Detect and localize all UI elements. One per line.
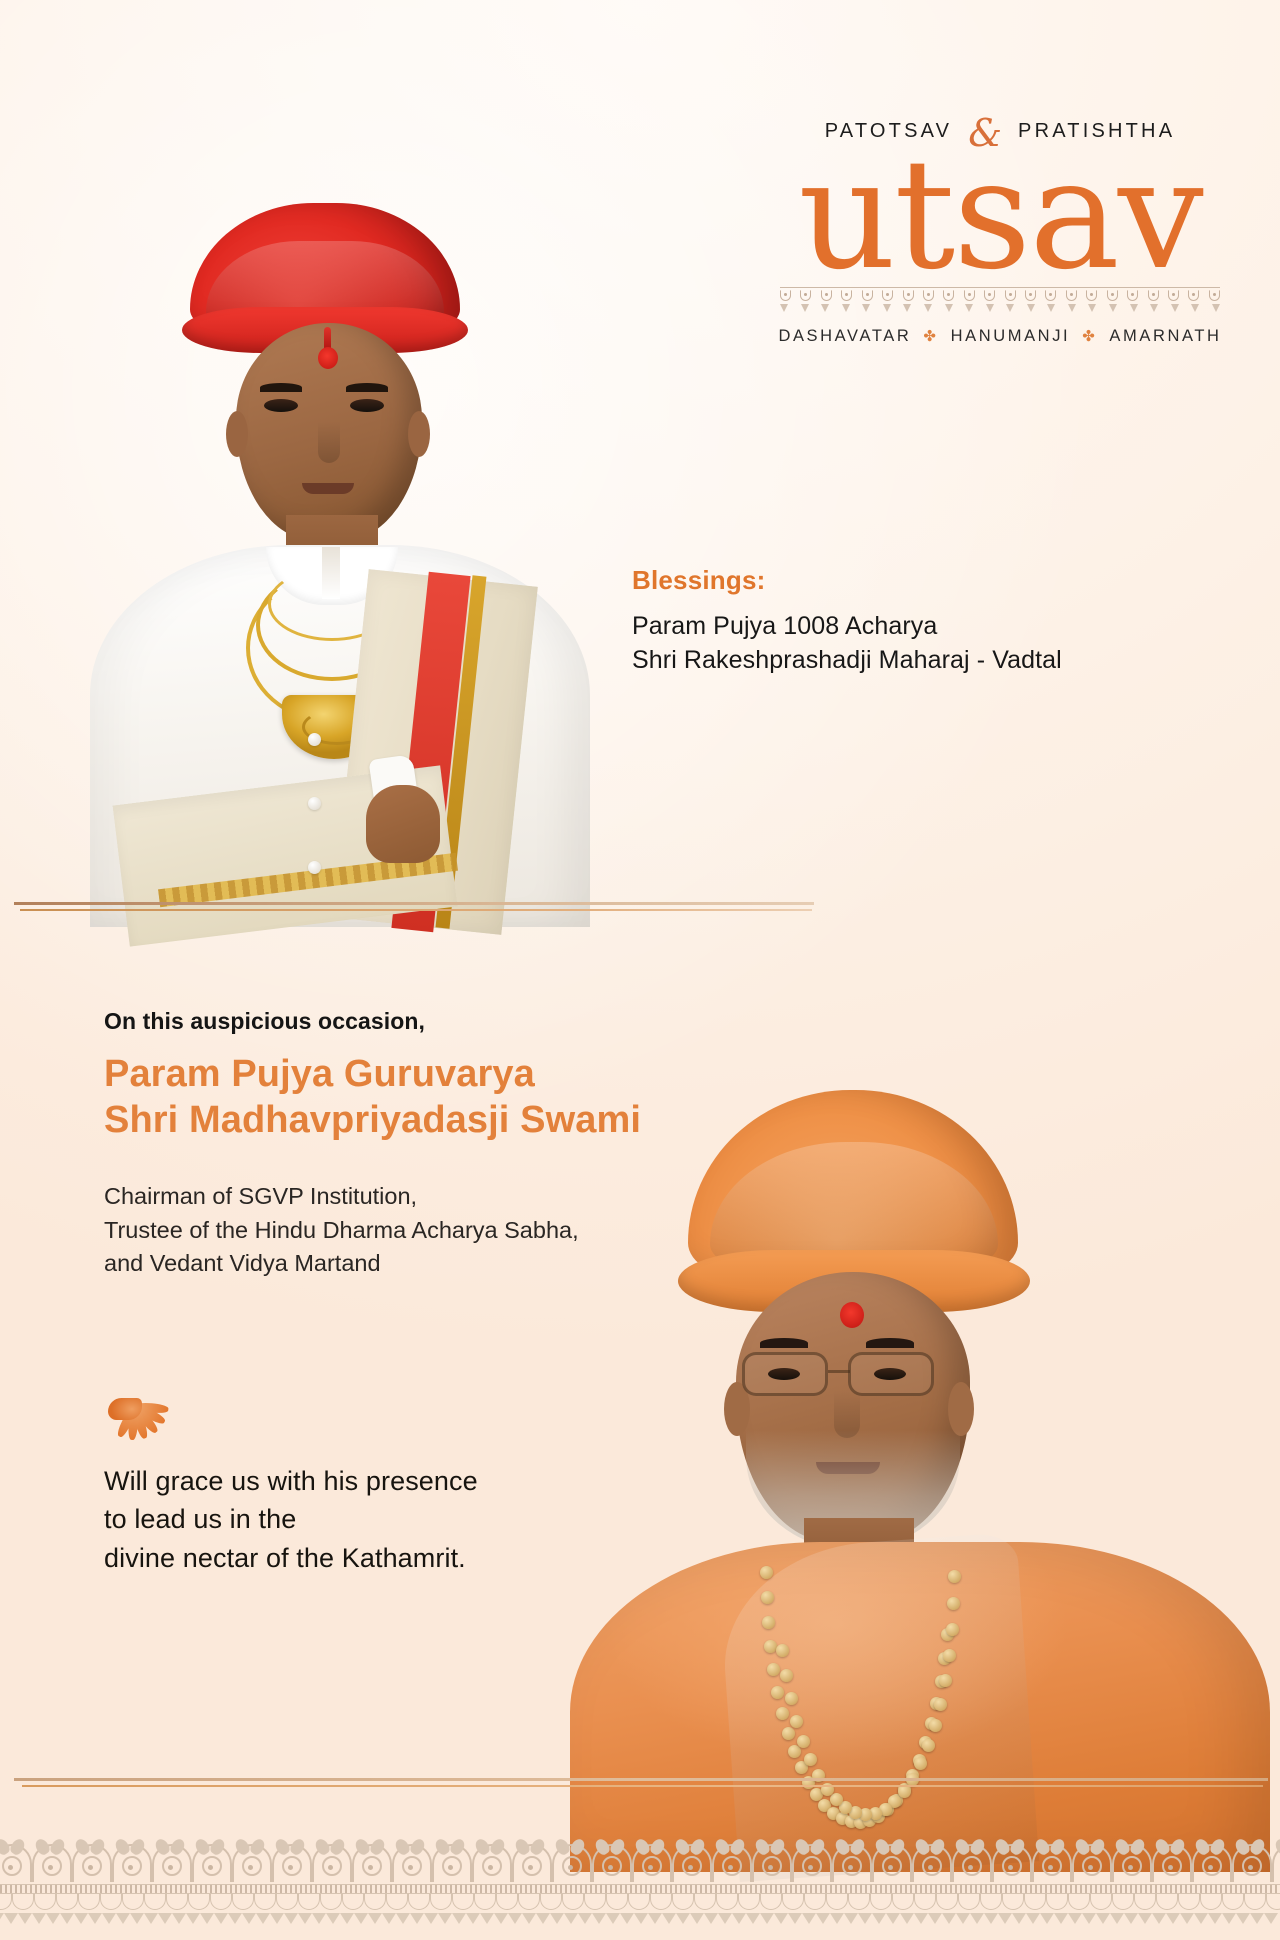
mandala-arch — [790, 1838, 830, 1882]
mandala-arch — [630, 1838, 670, 1882]
mandala-petal — [128, 1837, 147, 1857]
mandala-vee — [326, 1913, 340, 1924]
lace-tooth — [1088, 304, 1096, 312]
mandala-dot — [128, 1865, 133, 1870]
mandala-petal — [153, 1837, 172, 1857]
mandala-vee — [1110, 1913, 1124, 1924]
mandala-vee — [298, 1913, 312, 1924]
mala-bead — [785, 1692, 798, 1705]
mandala-vee — [1082, 1913, 1096, 1924]
lace-tooth — [842, 304, 850, 312]
lace-tooth — [883, 304, 891, 312]
mandala-scallop — [826, 1894, 848, 1910]
mandala-vee — [942, 1913, 956, 1924]
mandala-scallop — [1134, 1894, 1156, 1910]
lace-tooth — [986, 304, 994, 312]
fan-flower-ornament-icon — [104, 1376, 174, 1438]
mandala-vee — [788, 1913, 802, 1924]
mandala-vee — [956, 1913, 970, 1924]
divider-line-2 — [20, 909, 812, 911]
subtitle-item-hanumanji: HANUMANJI — [951, 327, 1071, 346]
mandala-vee — [760, 1913, 774, 1924]
mandala-vee — [648, 1913, 662, 1924]
mandala-scallop — [386, 1894, 408, 1910]
mandala-petal — [48, 1837, 67, 1857]
mandala-petal — [328, 1837, 347, 1857]
mandala-scallop — [760, 1894, 782, 1910]
mandala-scallop — [254, 1894, 276, 1910]
mandala-vee — [550, 1913, 564, 1924]
mala-bead — [943, 1649, 956, 1662]
mandala-petal — [1008, 1837, 1027, 1857]
mandala-vee — [1096, 1913, 1110, 1924]
mala-bead — [947, 1597, 960, 1610]
mandala-vee — [466, 1913, 480, 1924]
mandala-arch — [30, 1838, 70, 1882]
mandala-vee — [340, 1913, 354, 1924]
mandala-petal — [488, 1837, 507, 1857]
mandala-scallop — [606, 1894, 628, 1910]
mandala-vee — [1138, 1913, 1152, 1924]
flower-separator-icon: ✤ — [1082, 329, 1097, 344]
mandala-petal — [528, 1837, 547, 1857]
mandala-vee — [270, 1913, 284, 1924]
mandala-arch — [670, 1838, 710, 1882]
mandala-arch — [230, 1838, 270, 1882]
mandala-vee — [1250, 1913, 1264, 1924]
mandala-scallop — [1244, 1894, 1266, 1910]
mandala-vee — [564, 1913, 578, 1924]
mandala-vee — [354, 1913, 368, 1924]
mandala-petal — [1273, 1837, 1280, 1857]
mandala-scallop — [1068, 1894, 1090, 1910]
mandala-petal — [353, 1837, 372, 1857]
lace-arch — [1025, 290, 1036, 301]
mandala-petal — [888, 1837, 907, 1857]
lace-tooth — [924, 304, 932, 312]
mala-bead — [788, 1745, 801, 1758]
mandala-scallop — [364, 1894, 386, 1910]
mandala-vee — [144, 1913, 158, 1924]
lace-arch — [780, 290, 791, 301]
mandala-vee — [1166, 1913, 1180, 1924]
mandala-petal — [248, 1837, 267, 1857]
lace-arch — [1209, 290, 1220, 301]
mandala-scallop — [914, 1894, 936, 1910]
blessings-label: Blessings: — [632, 565, 1212, 596]
mandala-scallop — [210, 1894, 232, 1910]
lace-tooth — [1047, 304, 1055, 312]
blessings-block: Blessings: Param Pujya 1008 Acharya Shri… — [632, 565, 1212, 677]
mandala-dot — [688, 1865, 693, 1870]
mandala-petal — [513, 1837, 532, 1857]
mala-bead — [946, 1623, 959, 1636]
mandala-petal — [1168, 1837, 1187, 1857]
mandala-scallop — [518, 1894, 540, 1910]
mandala-dot — [328, 1865, 333, 1870]
brow-left — [760, 1338, 808, 1348]
lace-arch — [821, 290, 832, 301]
mandala-scallop — [892, 1894, 914, 1910]
mandala-vee — [200, 1913, 214, 1924]
mandala-petal — [208, 1837, 227, 1857]
ear-right — [408, 411, 430, 457]
mandala-dot — [448, 1865, 453, 1870]
mandala-dot — [1208, 1865, 1213, 1870]
lace-arch — [1107, 290, 1118, 301]
saint-portrait — [560, 1090, 1280, 1780]
mandala-vee — [116, 1913, 130, 1924]
mandala-arch — [110, 1838, 150, 1882]
mandala-arch — [1190, 1838, 1230, 1882]
lace-arch — [923, 290, 934, 301]
mandala-petal — [728, 1837, 747, 1857]
lace-arch — [1127, 290, 1138, 301]
brow-right — [346, 383, 388, 392]
mandala-scallop — [672, 1894, 694, 1910]
lace-arch — [984, 290, 995, 301]
mandala-petal — [688, 1837, 707, 1857]
hand — [366, 785, 440, 863]
mandala-arch — [710, 1838, 750, 1882]
mandala-scallop — [738, 1894, 760, 1910]
mandala-vee — [704, 1913, 718, 1924]
mandala-scallop — [166, 1894, 188, 1910]
mandala-vee — [242, 1913, 256, 1924]
mandala-arch — [910, 1838, 950, 1882]
mandala-vee — [690, 1913, 704, 1924]
mandala-vee — [872, 1913, 886, 1924]
bottom-mandala-border — [0, 1810, 1280, 1940]
mandala-petal — [1048, 1837, 1067, 1857]
mandala-dot — [248, 1865, 253, 1870]
mandala-vee — [578, 1913, 592, 1924]
lace-arch — [800, 290, 811, 301]
mandala-scallop — [342, 1894, 364, 1910]
mala-bead — [939, 1674, 952, 1687]
lace-arch — [1086, 290, 1097, 301]
lace-tooth — [862, 304, 870, 312]
mandala-scallop — [430, 1894, 452, 1910]
mandala-vee — [368, 1913, 382, 1924]
mandala-petal — [608, 1837, 627, 1857]
mandala-vee — [522, 1913, 536, 1924]
mandala-vee — [508, 1913, 522, 1924]
lace-teeth-row — [780, 304, 1220, 314]
mandala-arch — [1230, 1838, 1270, 1882]
lace-tooth — [903, 304, 911, 312]
mandala-dot — [288, 1865, 293, 1870]
mandala-scallop — [78, 1894, 100, 1910]
mandala-vee — [396, 1913, 410, 1924]
mandala-scallop — [694, 1894, 716, 1910]
mandala-petal — [88, 1837, 107, 1857]
mandala-vee — [634, 1913, 648, 1924]
mandala-vee — [424, 1913, 438, 1924]
mandala-vee — [284, 1913, 298, 1924]
mandala-scallop — [1002, 1894, 1024, 1910]
mandala-arch — [750, 1838, 790, 1882]
ampersand-glyph: & — [968, 122, 1002, 145]
mandala-vee — [816, 1913, 830, 1924]
mandala-arch — [1030, 1838, 1070, 1882]
mandala-scallop — [144, 1894, 166, 1910]
kurta-button — [308, 861, 321, 874]
lace-arch — [1045, 290, 1056, 301]
mala-bead — [760, 1566, 773, 1579]
mandala-vee — [1194, 1913, 1208, 1924]
mandala-vee — [676, 1913, 690, 1924]
mandala-arch — [950, 1838, 990, 1882]
section-divider-top — [14, 902, 814, 912]
mandala-petal — [168, 1837, 187, 1857]
lace-arch — [882, 290, 893, 301]
mandala-vee — [228, 1913, 242, 1924]
mala-bead — [790, 1715, 803, 1728]
lace-tooth — [945, 304, 953, 312]
mandala-arch — [470, 1838, 510, 1882]
lace-arch — [1168, 290, 1179, 301]
mala-bead — [764, 1640, 777, 1653]
divider-line-2 — [22, 1785, 1263, 1787]
mandala-arch-row — [0, 1838, 1280, 1882]
mandala-vee — [102, 1913, 116, 1924]
tilak-dot-icon — [840, 1302, 864, 1328]
mandala-vee — [886, 1913, 900, 1924]
mala-bead — [922, 1739, 935, 1752]
utsav-logo: PATOTSAV & PRATISHTHA utsav DASHAVATAR ✤… — [780, 120, 1220, 346]
mandala-arch — [870, 1838, 910, 1882]
mandala-vee — [718, 1913, 732, 1924]
mandala-dot — [1168, 1865, 1173, 1870]
mandala-arch — [0, 1838, 30, 1882]
mala-bead — [761, 1591, 774, 1604]
mala-bead — [914, 1757, 927, 1770]
mandala-dot — [888, 1865, 893, 1870]
mandala-petal — [1193, 1837, 1212, 1857]
mandala-petal — [393, 1837, 412, 1857]
mandala-dot — [608, 1865, 613, 1870]
mandala-vee — [1152, 1913, 1166, 1924]
mandala-petal — [953, 1837, 972, 1857]
lace-tooth — [1130, 304, 1138, 312]
mandala-dot — [768, 1865, 773, 1870]
mandala-dot — [208, 1865, 213, 1870]
mandala-arch — [550, 1838, 590, 1882]
lace-tooth — [965, 304, 973, 312]
lace-tooth — [1212, 304, 1220, 312]
mouth — [302, 483, 354, 494]
lace-tooth — [1006, 304, 1014, 312]
mandala-dotted-band — [0, 1884, 1280, 1894]
acharya-portrait — [50, 195, 620, 925]
mala-bead — [948, 1570, 961, 1583]
mandala-petal — [233, 1837, 252, 1857]
mandala-dot — [8, 1865, 13, 1870]
mandala-scallop — [716, 1894, 738, 1910]
lace-ornament — [780, 287, 1220, 313]
eye-right — [350, 399, 384, 412]
mandala-scallop — [782, 1894, 804, 1910]
mandala-scallop — [936, 1894, 958, 1910]
mandala-vee — [858, 1913, 872, 1924]
mandala-petal — [593, 1837, 612, 1857]
mandala-petal — [833, 1837, 852, 1857]
mandala-vee — [256, 1913, 270, 1924]
mandala-dot — [928, 1865, 933, 1870]
mandala-arch — [510, 1838, 550, 1882]
mandala-scallop — [56, 1894, 78, 1910]
mandala-petal — [568, 1837, 587, 1857]
mandala-petal — [448, 1837, 467, 1857]
mandala-petal — [848, 1837, 867, 1857]
mandala-petal — [648, 1837, 667, 1857]
mandala-petal — [713, 1837, 732, 1857]
mandala-vee — [1264, 1913, 1278, 1924]
mala-bead — [782, 1727, 795, 1740]
mandala-vee — [774, 1913, 788, 1924]
mandala-scallop — [100, 1894, 122, 1910]
mala-bead — [776, 1644, 789, 1657]
mandala-petal — [1033, 1837, 1052, 1857]
lace-arch — [1005, 290, 1016, 301]
mandala-scallop — [1200, 1894, 1222, 1910]
mandala-vee — [1026, 1913, 1040, 1924]
mandala-scallop — [540, 1894, 562, 1910]
mandala-scallop — [848, 1894, 870, 1910]
lace-arch — [1148, 290, 1159, 301]
mandala-petal — [793, 1837, 812, 1857]
lace-arch — [862, 290, 873, 301]
mandala-vee — [1040, 1913, 1054, 1924]
mandala-petal — [1208, 1837, 1227, 1857]
mala-bead — [780, 1669, 793, 1682]
mandala-vee — [592, 1913, 606, 1924]
mandala-arch — [1270, 1838, 1280, 1882]
mandala-scallop — [122, 1894, 144, 1910]
mandala-vee — [802, 1913, 816, 1924]
mandala-dot — [528, 1865, 533, 1870]
mandala-vee — [60, 1913, 74, 1924]
lace-tooth — [1068, 304, 1076, 312]
lace-tooth — [1150, 304, 1158, 312]
mandala-vee — [172, 1913, 186, 1924]
lace-arch — [943, 290, 954, 301]
lace-tooth — [801, 304, 809, 312]
mandala-vee — [18, 1913, 32, 1924]
mandala-vee — [494, 1913, 508, 1924]
mandala-petal — [993, 1837, 1012, 1857]
mandala-petal — [33, 1837, 52, 1857]
brow-right — [866, 1338, 914, 1348]
mandala-petal — [1113, 1837, 1132, 1857]
mandala-petal — [913, 1837, 932, 1857]
mandala-scallop — [34, 1894, 56, 1910]
mandala-vee — [186, 1913, 200, 1924]
mandala-arch — [1110, 1838, 1150, 1882]
mandala-dot — [848, 1865, 853, 1870]
mandala-scallop — [804, 1894, 826, 1910]
mandala-petal — [433, 1837, 452, 1857]
mandala-vee — [732, 1913, 746, 1924]
mandala-dot — [968, 1865, 973, 1870]
mandala-vee — [1012, 1913, 1026, 1924]
mandala-vee — [844, 1913, 858, 1924]
mandala-petal — [673, 1837, 692, 1857]
mandala-dot — [88, 1865, 93, 1870]
subtitle-item-amarnath: AMARNATH — [1109, 327, 1221, 346]
mandala-vee — [914, 1913, 928, 1924]
lace-tooth — [780, 304, 788, 312]
mandala-arch — [990, 1838, 1030, 1882]
eye-left — [768, 1368, 800, 1380]
mandala-scallop — [650, 1894, 672, 1910]
mandala-petal — [473, 1837, 492, 1857]
mandala-vee — [1124, 1913, 1138, 1924]
mandala-vee — [830, 1913, 844, 1924]
mandala-vee — [900, 1913, 914, 1924]
mala-bead — [797, 1735, 810, 1748]
mandala-dot — [1088, 1865, 1093, 1870]
mandala-scallop — [1178, 1894, 1200, 1910]
mala-bead — [804, 1753, 817, 1766]
mandala-vee — [312, 1913, 326, 1924]
lace-arch — [1188, 290, 1199, 301]
mandala-vee — [998, 1913, 1012, 1924]
mandala-scallop — [232, 1894, 254, 1910]
mala-bead — [762, 1616, 775, 1629]
mandala-petal — [288, 1837, 307, 1857]
mandala-petal — [808, 1837, 827, 1857]
mandala-vee — [928, 1913, 942, 1924]
lace-arch — [964, 290, 975, 301]
mala-bead — [771, 1686, 784, 1699]
eye-left — [264, 399, 298, 412]
blessings-line-2: Shri Rakeshprashadji Maharaj - Vadtal — [632, 644, 1212, 678]
spectacle-bridge — [828, 1370, 850, 1373]
mandala-petal — [113, 1837, 132, 1857]
mandala-petal — [553, 1837, 572, 1857]
mandala-arch — [1070, 1838, 1110, 1882]
eye-right — [874, 1368, 906, 1380]
mandala-petal — [1128, 1837, 1147, 1857]
mandala-petal — [768, 1837, 787, 1857]
mandala-vee — [536, 1913, 550, 1924]
mandala-arch — [270, 1838, 310, 1882]
mandala-scallop — [474, 1894, 496, 1910]
mandala-petal — [408, 1837, 427, 1857]
lace-tooth — [1171, 304, 1179, 312]
mandala-scallop — [276, 1894, 298, 1910]
mandala-scallop — [958, 1894, 980, 1910]
mandala-petal — [273, 1837, 292, 1857]
mandala-petal — [928, 1837, 947, 1857]
mandala-dot — [1128, 1865, 1133, 1870]
mandala-petal — [873, 1837, 892, 1857]
mandala-scallop — [980, 1894, 1002, 1910]
mandala-vee — [410, 1913, 424, 1924]
lace-tooth — [1027, 304, 1035, 312]
mandala-vee — [130, 1913, 144, 1924]
mandala-petal — [368, 1837, 387, 1857]
mandala-scallop — [298, 1894, 320, 1910]
mandala-scallop — [1090, 1894, 1112, 1910]
occasion-line: On this auspicious occasion, — [104, 1008, 804, 1035]
mandala-vee — [970, 1913, 984, 1924]
mandala-dot — [1248, 1865, 1253, 1870]
mandala-vee — [662, 1913, 676, 1924]
mandala-scallop — [1156, 1894, 1178, 1910]
